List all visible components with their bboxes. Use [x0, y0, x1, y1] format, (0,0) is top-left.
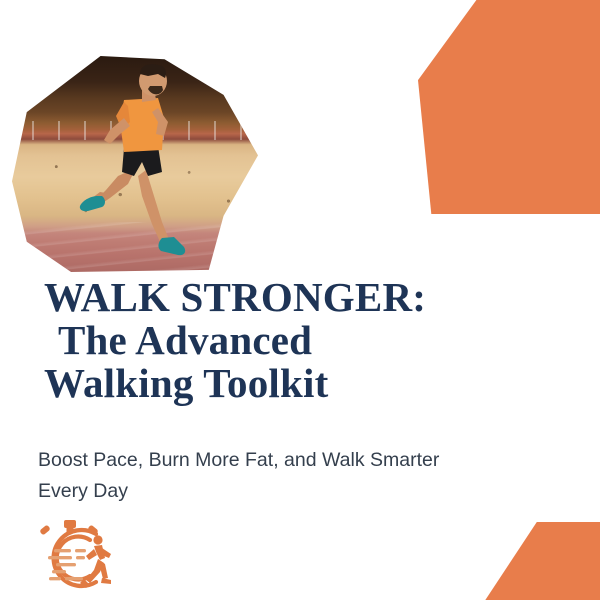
title-line-1: WALK STRONGER: [44, 276, 564, 319]
title-line-3: Walking Toolkit [44, 362, 564, 405]
subtitle-line-1: Boost Pace, Burn More Fat, and Walk Smar… [38, 449, 439, 471]
page-title: WALK STRONGER: The Advanced Walking Tool… [44, 276, 564, 405]
subtitle-line-2: Every Day [38, 480, 128, 502]
top-right-hexagon-accent [418, 0, 600, 214]
bottom-right-angled-accent [484, 522, 600, 600]
hero-photo [12, 56, 258, 272]
poster-canvas: WALK STRONGER: The Advanced Walking Tool… [0, 0, 600, 600]
page-subtitle: Boost Pace, Burn More Fat, and Walk Smar… [38, 445, 538, 507]
stopwatch-runner-logo [22, 518, 126, 594]
runner-figure-icon [12, 56, 258, 272]
title-line-2: The Advanced [44, 319, 564, 362]
hero-photo-image [12, 56, 258, 272]
